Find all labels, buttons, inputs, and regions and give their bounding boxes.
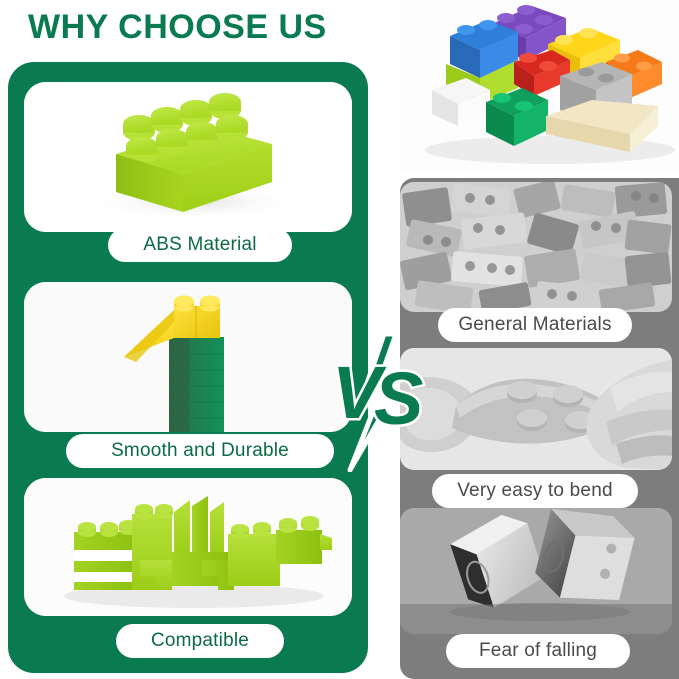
infographic-root: WHY CHOOSE US <box>0 0 679 679</box>
drawback-pill-2: Very easy to bend <box>432 474 638 508</box>
gray-bricks-pile-photo <box>400 182 672 312</box>
hands-bending-brick-photo <box>400 348 672 470</box>
lime-green-2x4-brick-photo <box>24 82 352 232</box>
page-title: WHY CHOOSE US <box>28 8 327 47</box>
advantage-pill-2: Smooth and Durable <box>66 434 334 468</box>
falling-bricks-illustration <box>400 508 672 634</box>
advantage-card-1 <box>24 82 352 232</box>
advantage-pill-3: Compatible <box>116 624 284 658</box>
colorful-bricks-illustration <box>400 0 679 172</box>
falling-bricks-photo <box>400 508 672 634</box>
colorful-bricks-assortment-photo <box>400 0 679 172</box>
drawback-label-2: Very easy to bend <box>457 480 613 502</box>
advantage-label-3: Compatible <box>151 630 249 652</box>
advantage-pill-1: ABS Material <box>108 228 292 262</box>
drawback-pill-3: Fear of falling <box>446 634 630 668</box>
hands-bending-brick-illustration <box>400 348 672 470</box>
yellow-green-giraffe-build-photo <box>24 282 352 432</box>
drawback-label-1: General Materials <box>458 314 611 336</box>
advantage-card-3 <box>24 478 352 616</box>
advantage-label-1: ABS Material <box>143 234 256 256</box>
drawback-label-3: Fear of falling <box>479 640 597 662</box>
gray-bricks-pile-illustration <box>400 182 672 312</box>
lime-green-crocodile-build-photo <box>24 478 352 616</box>
advantage-label-2: Smooth and Durable <box>111 440 289 462</box>
drawback-pill-1: General Materials <box>438 308 632 342</box>
advantage-card-2 <box>24 282 352 432</box>
